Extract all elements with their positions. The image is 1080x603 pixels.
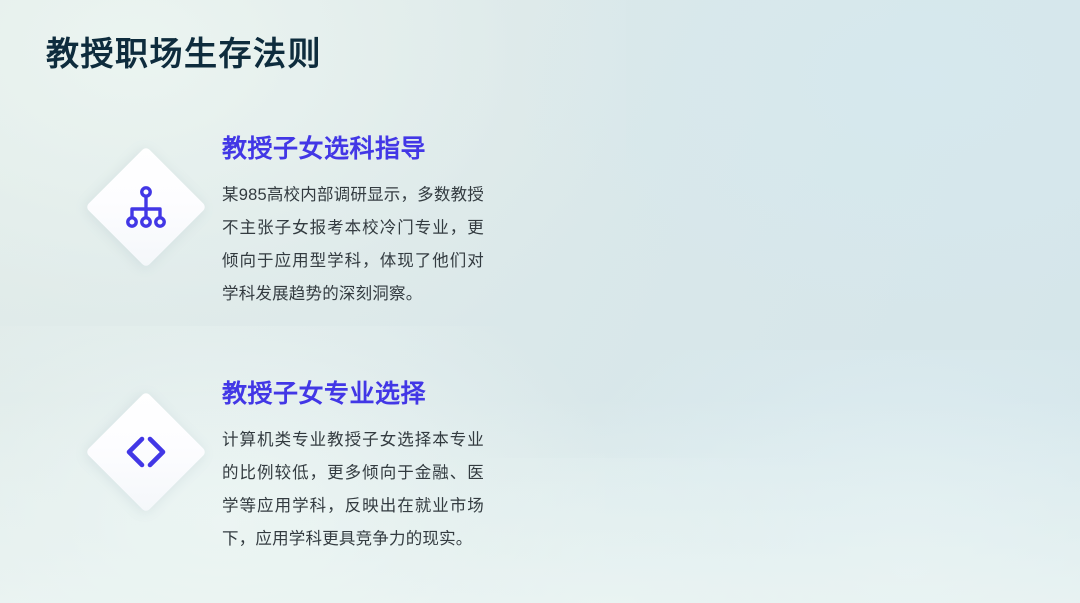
feature-card: 选科与就业趋势 在就业市场下，头部双非院校的王牌专业毕业生起薪，比985冷门专业… [540,367,1080,603]
feature-card: 专业选择倾向 在人工智能时代，传统文科实验室的科研经费已连续5年负增长，而新工科… [540,122,1080,367]
feature-card-text: 教授子女专业选择 计算机类专业教授子女选择本专业的比例较低，更多倾向于金融、医学… [222,379,484,556]
slide-root: 教授职场生存法则 教授子女选科指导 某985高校内部调研显示 [0,0,1080,603]
code-brackets-icon [122,428,170,476]
icon-badge-diamond [85,391,207,513]
feature-card-body: 某985高校内部调研显示，多数教授不主张子女报考本校冷门专业，更倾向于应用型学科… [222,179,484,311]
feature-card-text: 教授子女选科指导 某985高校内部调研显示，多数教授不主张子女报考本校冷门专业，… [222,134,484,311]
page-title: 教授职场生存法则 [46,34,322,74]
feature-card-grid: 教授子女选科指导 某985高校内部调研显示，多数教授不主张子女报考本校冷门专业，… [0,122,1080,603]
feature-card: 教授子女选科指导 某985高校内部调研显示，多数教授不主张子女报考本校冷门专业，… [0,122,540,367]
feature-card-title: 教授子女选科指导 [222,134,484,165]
feature-card-body: 计算机类专业教授子女选择本专业的比例较低，更多倾向于金融、医学等应用学科，反映出… [222,424,484,556]
hierarchy-icon [122,183,170,231]
feature-card-title: 教授子女专业选择 [222,379,484,410]
icon-badge-diamond [85,146,207,268]
feature-card: 教授子女专业选择 计算机类专业教授子女选择本专业的比例较低，更多倾向于金融、医学… [0,367,540,603]
